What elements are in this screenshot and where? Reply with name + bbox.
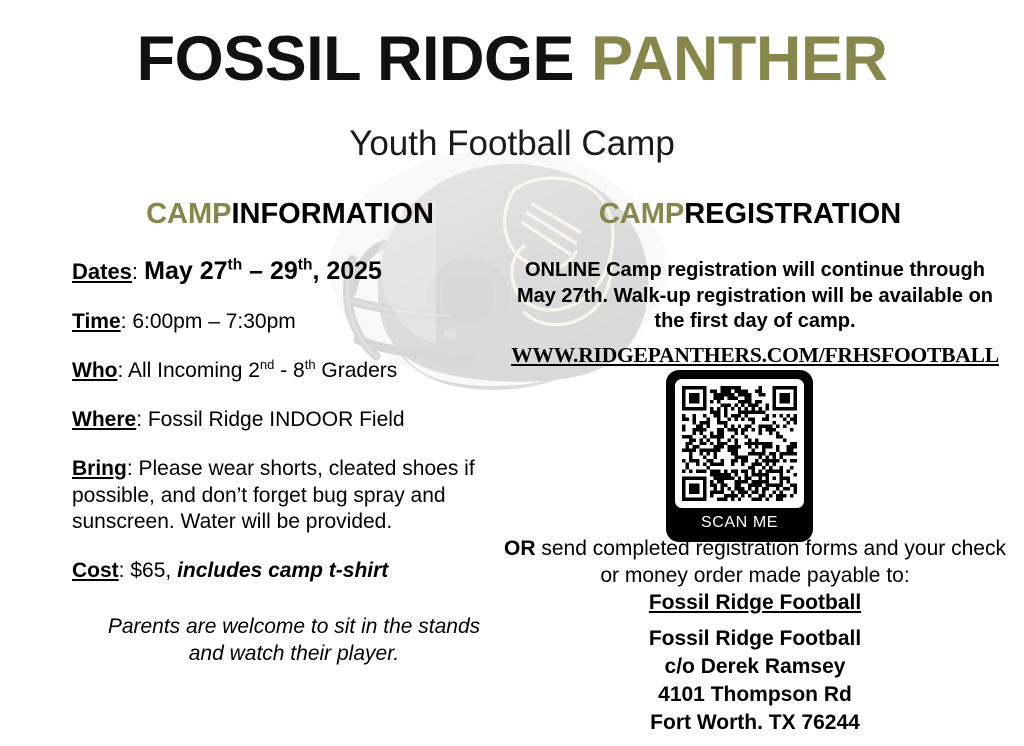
info-label-cost: Cost (72, 559, 119, 582)
info-item-time: Time: 6:00pm – 7:30pm (72, 309, 512, 336)
registration-url-link[interactable]: WWW.RIDGEPANTHERS.COM/FRHSFOOTBALL (500, 343, 1010, 368)
info-label-where: Where (72, 408, 136, 431)
info-label-who: Who (72, 359, 117, 382)
info-value-cost: $65, (130, 559, 177, 582)
camp-registration-heading-olive: CAMP (599, 198, 684, 230)
camp-registration-heading: CAMPREGISTRATION (476, 198, 1024, 231)
qr-code-canvas (682, 386, 797, 501)
info-value-dates: May 27th – 29th, 2025 (144, 257, 382, 285)
camp-registration-block: ONLINE Camp registration will continue t… (500, 258, 1010, 368)
camp-information-heading-black: INFORMATION (231, 198, 433, 230)
sup-th-2: th (298, 257, 313, 274)
info-sep-dates: : (132, 259, 144, 284)
registration-blurb: ONLINE Camp registration will continue t… (500, 258, 1010, 335)
info-item-who: Who: All Incoming 2nd - 8th Graders (72, 358, 512, 385)
page-subtitle: Youth Football Camp (0, 124, 1024, 164)
address-line-3: 4101 Thompson Rd (500, 681, 1010, 709)
info-item-dates: Dates: May 27th – 29th, 2025 (72, 255, 512, 287)
mailing-address: Fossil Ridge Football c/o Derek Ramsey 4… (500, 625, 1010, 737)
qr-code-modules-area (675, 379, 804, 508)
info-value-where: Fossil Ridge INDOOR Field (148, 408, 405, 431)
title-olive-part: PANTHER (591, 24, 887, 94)
camp-flyer: FOSSIL RIDGE PANTHER Youth Football Camp… (0, 0, 1024, 746)
mail-instructions-or: OR (504, 537, 536, 560)
parents-note: Parents are welcome to sit in the stands… (72, 613, 512, 668)
address-line-4: Fort Worth. TX 76244 (500, 709, 1010, 737)
info-value-who: All Incoming 2nd - 8th Graders (128, 359, 397, 382)
info-label-dates: Dates (72, 259, 132, 284)
info-item-bring: Bring: Please wear shorts, cleated shoes… (72, 456, 512, 537)
mail-instructions-text: send completed registration forms and yo… (536, 537, 1006, 587)
title-black-part: FOSSIL RIDGE (137, 24, 591, 94)
info-sep-who: : (117, 359, 128, 382)
info-sep-where: : (136, 408, 148, 431)
qr-code-icon[interactable]: SCAN ME (666, 370, 813, 542)
info-item-where: Where: Fossil Ridge INDOOR Field (72, 407, 512, 434)
camp-information-heading-olive: CAMP (146, 198, 231, 230)
sup-th-1: th (228, 257, 243, 274)
mail-instructions: OR send completed registration forms and… (500, 536, 1010, 617)
sup-nd: nd (260, 357, 274, 372)
camp-information-list: Dates: May 27th – 29th, 2025 Time: 6:00p… (72, 255, 512, 668)
info-value-time: 6:00pm – 7:30pm (132, 310, 295, 333)
info-sep-bring: : (127, 457, 139, 480)
info-label-time: Time (72, 310, 121, 333)
info-sep-time: : (121, 310, 133, 333)
info-item-cost: Cost: $65, includes camp t-shirt (72, 558, 512, 585)
info-sep-cost: : (119, 559, 131, 582)
address-line-2: c/o Derek Ramsey (500, 653, 1010, 681)
camp-registration-heading-black: REGISTRATION (684, 198, 901, 230)
scan-me-label: SCAN ME (666, 514, 813, 532)
page-title: FOSSIL RIDGE PANTHER (0, 26, 1024, 92)
payee-name: Fossil Ridge Football (500, 590, 1010, 617)
info-value-cost-emphasis: includes camp t-shirt (177, 559, 388, 582)
info-label-bring: Bring (72, 457, 127, 480)
sup-th-3: th (305, 357, 316, 372)
address-line-1: Fossil Ridge Football (500, 625, 1010, 653)
